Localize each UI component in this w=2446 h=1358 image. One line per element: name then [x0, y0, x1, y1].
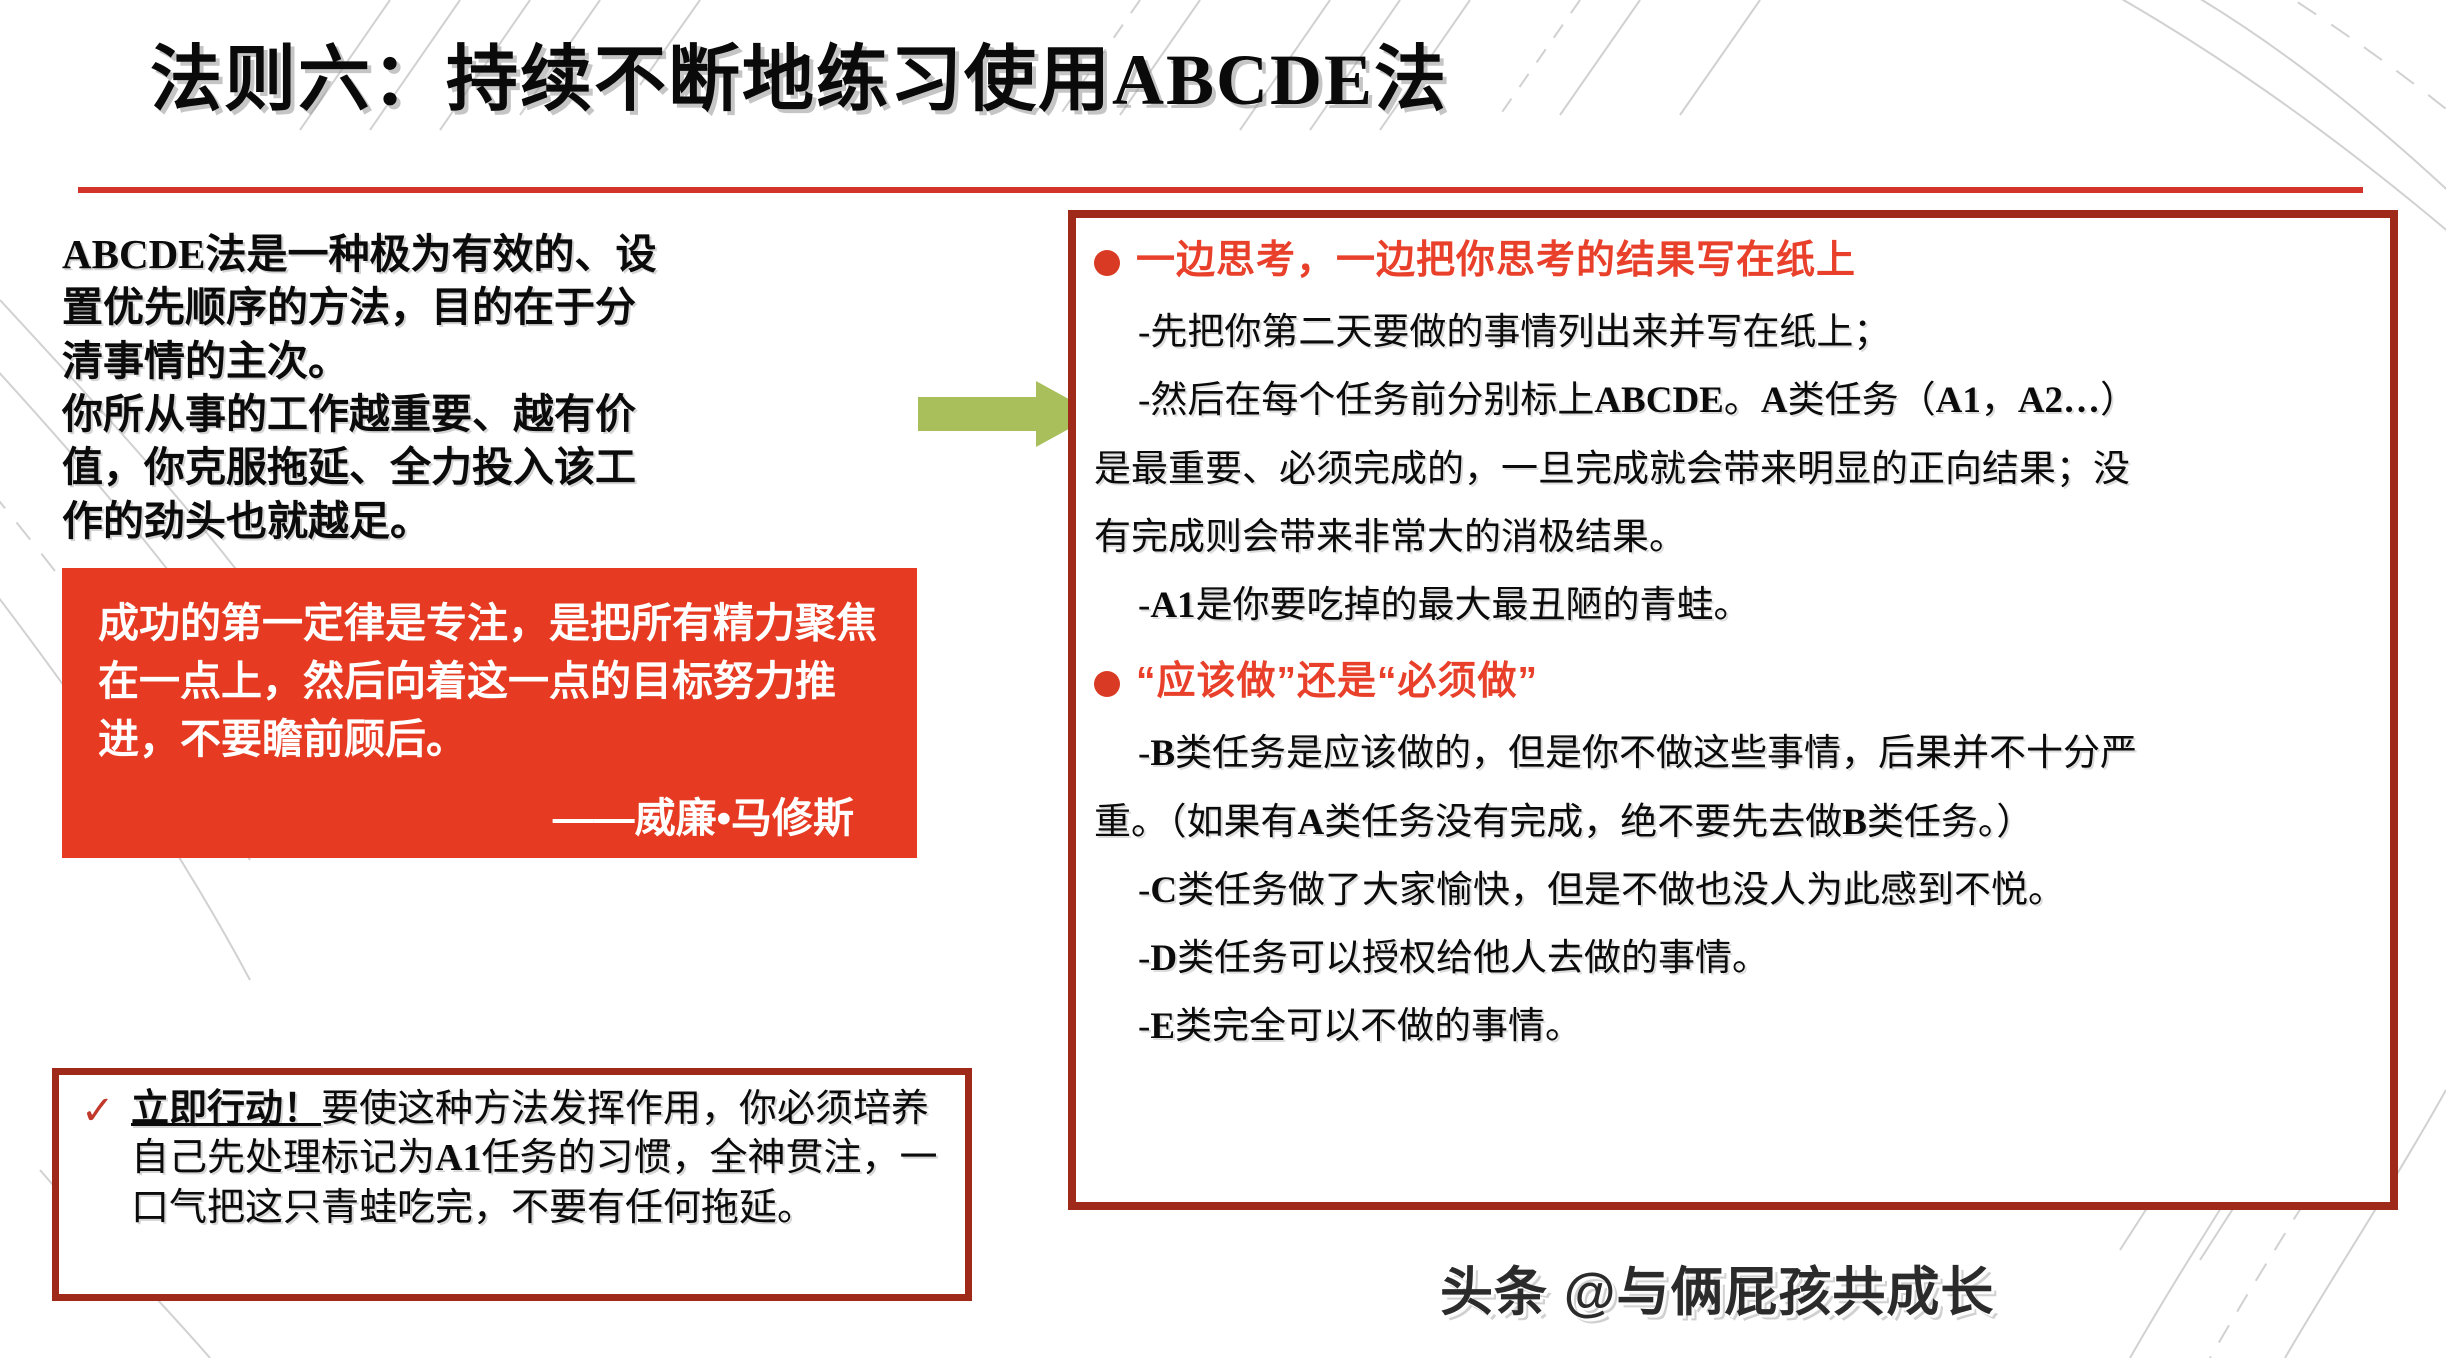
action-lead-label: 立即行动！ [131, 1088, 321, 1130]
detail-text: 是最重要、必须完成的，一旦完成就会带来明显的正向结果；没 [1094, 449, 2130, 490]
detail-emphasis: ABCDE [1594, 380, 1724, 421]
detail-line: 是最重要、必须完成的，一旦完成就会带来明显的正向结果；没 [1094, 447, 2364, 493]
quote-callout-box: 成功的第一定律是专注，是把所有精力聚焦在一点上，然后向着这一点的目标努力推进，不… [62, 568, 917, 858]
detail-line: -B类任务是应该做的，但是你不做这些事情，后果并不十分严 [1094, 731, 2364, 777]
detail-text: 类完全可以不做的事情。 [1175, 1006, 1582, 1047]
detail-text: ， [1981, 380, 2018, 421]
detail-text: 重。（如果有 [1094, 802, 1298, 843]
detail-emphasis: D [1150, 938, 1177, 979]
detail-text: 类任务可以授权给他人去做的事情。 [1177, 938, 1769, 979]
detail-line: -然后在每个任务前分别标上ABCDE。A类任务（A1，A2…） [1094, 378, 2364, 424]
detail-line: 有完成则会带来非常大的消极结果。 [1094, 515, 2364, 561]
bullet-heading-row: “应该做”还是“必须做” [1094, 659, 2364, 705]
quote-text: 成功的第一定律是专注，是把所有精力聚焦在一点上，然后向着这一点的目标努力推进，不… [98, 594, 888, 769]
detail-line: -D类任务可以授权给他人去做的事情。 [1094, 936, 2364, 982]
detail-line: 重。（如果有A类任务没有完成，绝不要先去做B类任务。） [1094, 800, 2364, 846]
detail-line: -E类完全可以不做的事情。 [1094, 1004, 2364, 1050]
detail-text: 类任务做了大家愉快，但是不做也没人为此感到不悦。 [1177, 870, 2065, 911]
detail-line: -A1是你要吃掉的最大最丑陋的青蛙。 [1094, 583, 2364, 629]
detail-text: - [1138, 585, 1150, 626]
detail-emphasis: A [1761, 380, 1788, 421]
detail-text: 有完成则会带来非常大的消极结果。 [1094, 517, 1686, 558]
detail-emphasis: B [1150, 733, 1175, 774]
detail-emphasis: A1 [1936, 380, 1981, 421]
abcde-detail-panel: 一边思考，一边把你思考的结果写在纸上-先把你第二天要做的事情列出来并写在纸上；-… [1068, 210, 2398, 1210]
detail-text: -先把你第二天要做的事情列出来并写在纸上； [1138, 312, 1890, 353]
bullet-heading-row: 一边思考，一边把你思考的结果写在纸上 [1094, 238, 2364, 284]
detail-emphasis: E [1150, 1006, 1175, 1047]
action-bold-token: A1 [435, 1137, 481, 1179]
watermark: 头条 @与俩屁孩共成长 [1440, 1250, 2380, 1326]
detail-text: - [1138, 1006, 1150, 1047]
detail-emphasis: C [1150, 870, 1177, 911]
check-icon: ✓ [81, 1089, 121, 1133]
detail-emphasis: A2… [2018, 380, 2100, 421]
detail-text: - [1138, 733, 1150, 774]
detail-emphasis: B [1842, 802, 1867, 843]
quote-attribution: ——威廉•马修斯 [98, 784, 888, 844]
detail-text: 是你要吃掉的最大最丑陋的青蛙。 [1196, 585, 1751, 626]
action-callout-box: ✓ 立即行动！要使这种方法发挥作用，你必须培养自己先处理标记为A1任务的习惯，全… [52, 1068, 972, 1301]
detail-text: -然后在每个任务前分别标上 [1138, 380, 1594, 421]
action-text: 立即行动！要使这种方法发挥作用，你必须培养自己先处理标记为A1任务的习惯，全神贯… [131, 1085, 956, 1233]
detail-text: - [1138, 938, 1150, 979]
bullet-dot-icon [1094, 671, 1120, 697]
page-title: 法则六：持续不断地练习使用ABCDE法 [150, 20, 2310, 125]
detail-text: 类任务（ [1788, 380, 1936, 421]
bullet-dot-icon [1094, 250, 1120, 276]
bullet-heading-label: “应该做”还是“必须做” [1136, 659, 1538, 705]
detail-text: 。 [1724, 380, 1761, 421]
abcde-detail-content: 一边思考，一边把你思考的结果写在纸上-先把你第二天要做的事情列出来并写在纸上；-… [1076, 218, 2390, 1202]
detail-line: -C类任务做了大家愉快，但是不做也没人为此感到不悦。 [1094, 868, 2364, 914]
detail-line: -先把你第二天要做的事情列出来并写在纸上； [1094, 310, 2364, 356]
detail-emphasis: A [1298, 802, 1325, 843]
intro-paragraph-1: ABCDE法是一种极为有效的、设置优先顺序的方法，目的在于分清事情的主次。 [62, 228, 662, 388]
title-divider-rule [78, 187, 2363, 193]
detail-text: 类任务。） [1867, 802, 2034, 843]
detail-text: 类任务没有完成，绝不要先去做 [1324, 802, 1842, 843]
detail-text: 类任务是应该做的，但是你不做这些事情，后果并不十分严 [1175, 733, 2137, 774]
intro-paragraph-2: 你所从事的工作越重要、越有价值，你克服拖延、全力投入该工作的劲头也就越足。 [62, 388, 672, 548]
slide-canvas: 法则六：持续不断地练习使用ABCDE法 ABCDE法是一种极为有效的、设置优先顺… [0, 0, 2446, 1358]
detail-text: - [1138, 870, 1150, 911]
detail-text: ） [2100, 380, 2137, 421]
detail-emphasis: A1 [1150, 585, 1195, 626]
bullet-heading-label: 一边思考，一边把你思考的结果写在纸上 [1136, 238, 1856, 284]
